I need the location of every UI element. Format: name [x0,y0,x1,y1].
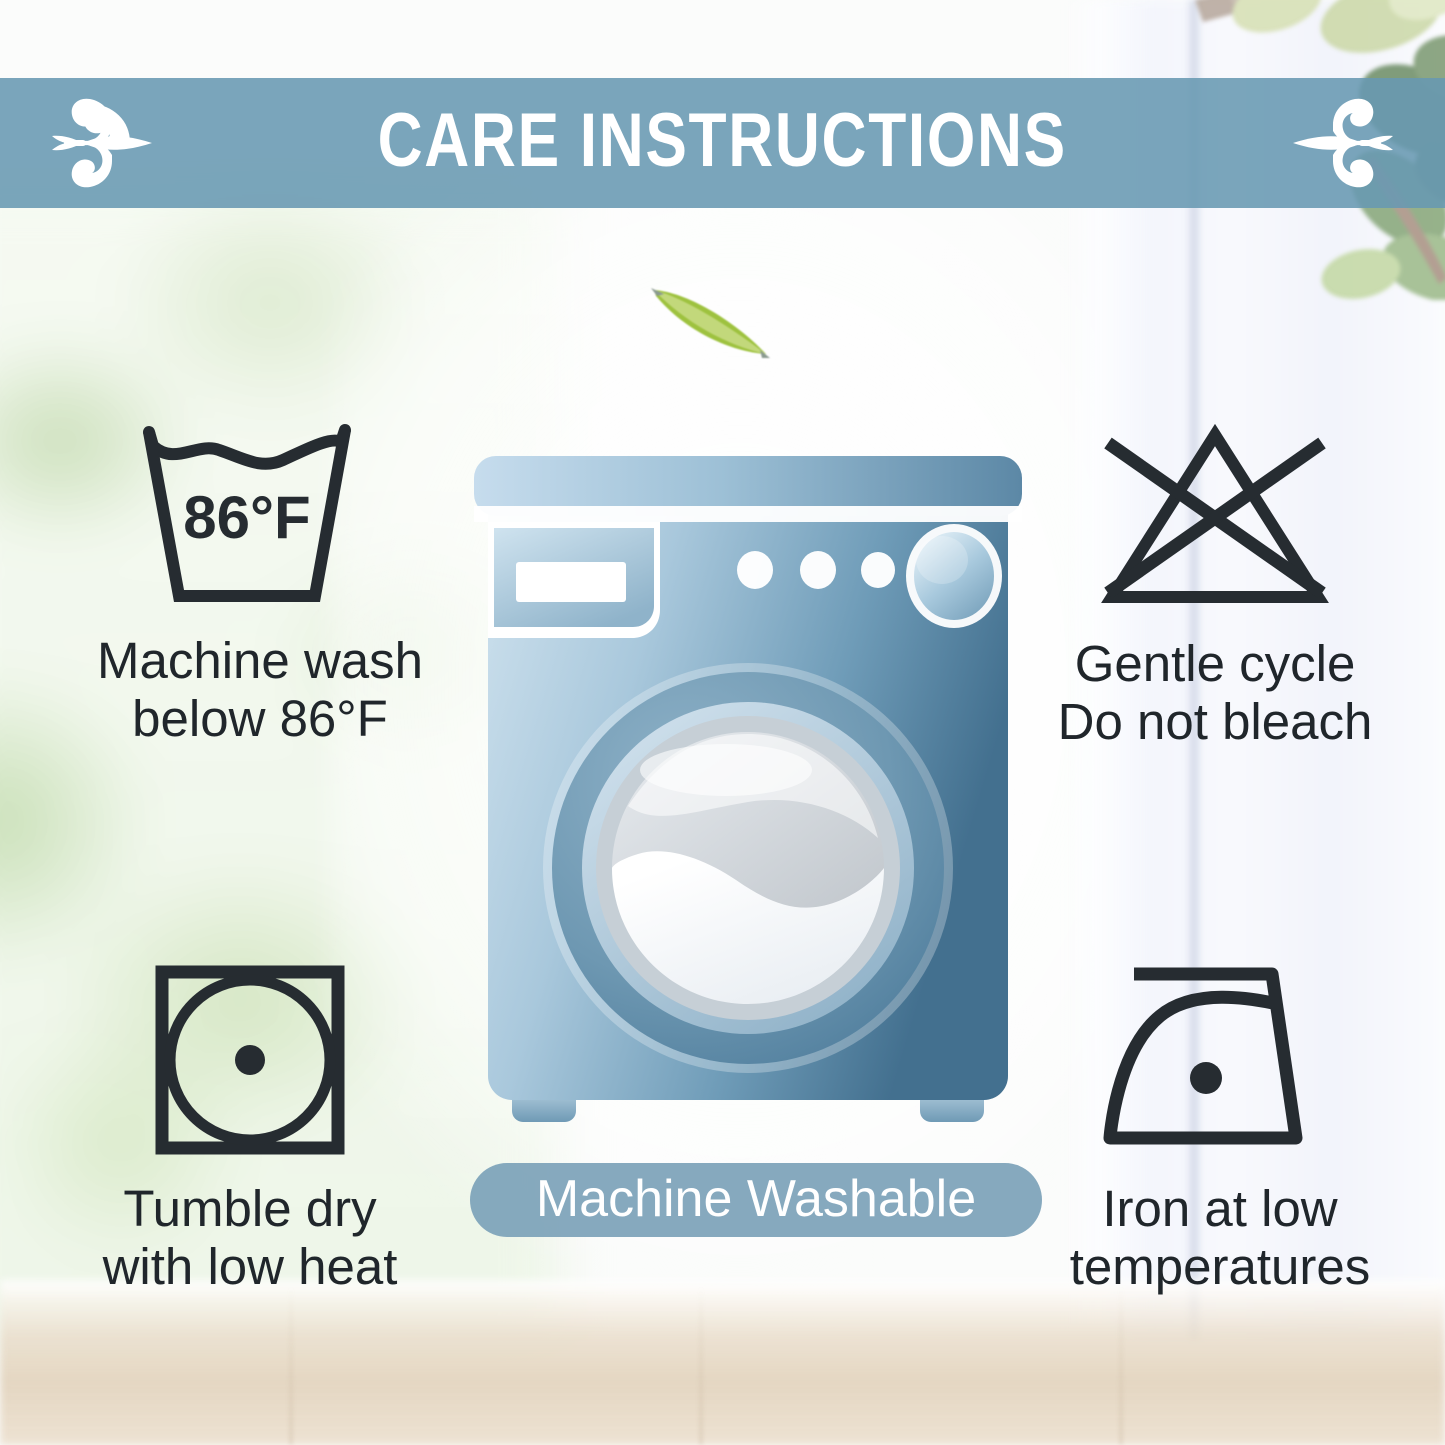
do-not-bleach-triangle-icon [1090,415,1340,615]
wood-seam [290,1285,292,1445]
badge-label: Machine Washable [536,1173,976,1225]
iron-icon-wrap [1000,960,1440,1160]
care-caption: Tumble dry with low heat [15,1180,485,1296]
fleur-de-lis-left-icon [52,95,170,191]
tumble-dry-icon-wrap [15,960,485,1160]
header-banner: CARE INSTRUCTIONS [0,78,1445,208]
caption-line-1: Machine wash [20,632,500,690]
care-caption: Gentle cycle Do not bleach [1000,635,1430,751]
wood-surface [0,1280,1445,1445]
care-instructions-graphic: CARE INSTRUCTIONS 86°F Machin [0,0,1445,1445]
caption-line-2: temperatures [1000,1238,1440,1296]
fleur-de-lis-right-icon [1275,95,1393,191]
care-symbol-machine-wash: 86°F Machine wash below 86°F [20,420,500,748]
tumble-dry-low-icon [150,960,350,1160]
caption-line-2: with low heat [15,1238,485,1296]
wood-seam [700,1285,702,1445]
caption-line-1: Iron at low [1000,1180,1440,1238]
caption-line-1: Tumble dry [15,1180,485,1238]
care-caption: Iron at low temperatures [1000,1180,1440,1296]
care-caption: Machine wash below 86°F [20,632,500,748]
wash-tub-icon-wrap: 86°F [20,420,500,610]
care-symbol-do-not-bleach: Gentle cycle Do not bleach [1000,415,1430,751]
machine-washable-badge: Machine Washable [470,1163,1042,1237]
control-knob [906,524,1002,628]
do-not-bleach-icon-wrap [1000,415,1430,615]
care-symbol-iron: Iron at low temperatures [1000,960,1440,1296]
wood-seam [1120,1285,1122,1445]
machine-door [543,663,953,1073]
washing-machine-illustration [468,450,1028,1140]
caption-line-2: below 86°F [20,690,500,748]
caption-line-1: Gentle cycle [1000,635,1430,693]
indicator-lights [737,551,895,589]
caption-line-2: Do not bleach [1000,693,1430,751]
wash-temperature-value: 86°F [183,484,310,551]
floating-leaf-icon [648,276,773,361]
detergent-drawer [488,522,660,638]
iron-low-temperature-icon [1100,960,1340,1160]
care-symbol-tumble-dry: Tumble dry with low heat [15,960,485,1296]
page-title: CARE INSTRUCTIONS [378,103,1067,179]
wash-tub-icon: 86°F [135,420,385,610]
